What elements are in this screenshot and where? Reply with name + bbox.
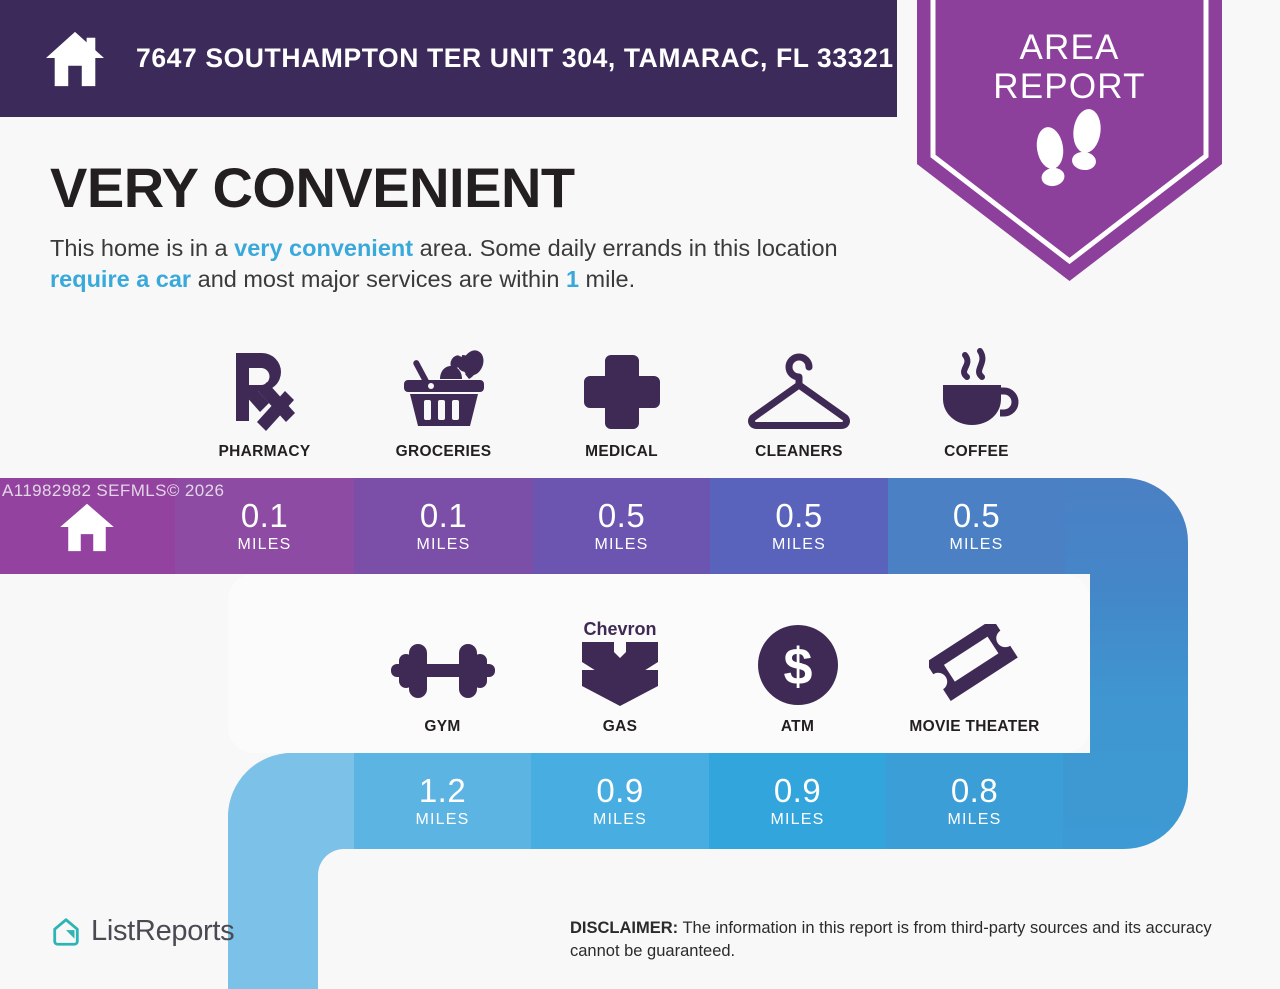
distance-value: 0.9 <box>709 773 886 809</box>
distance-value: 0.1 <box>354 498 533 534</box>
amenity-label: GYM <box>424 718 460 736</box>
distance-value: 0.1 <box>175 498 354 534</box>
distance-unit: MILES <box>888 536 1065 554</box>
distance-value: 0.5 <box>533 498 710 534</box>
movie-ticket-icon <box>929 620 1021 706</box>
distance-segment-lead <box>228 753 354 849</box>
dollar-circle-icon: $ <box>757 620 839 706</box>
distance-unit: MILES <box>354 811 531 829</box>
distance-unit: MILES <box>354 536 533 554</box>
prescription-rx-icon <box>230 345 300 431</box>
page-description: This home is in a very convenient area. … <box>50 233 910 295</box>
property-address: 7647 SOUTHAMPTON TER UNIT 304, TAMARAC, … <box>136 43 894 74</box>
header-bar: 7647 SOUTHAMPTON TER UNIT 304, TAMARAC, … <box>0 0 897 117</box>
desc-part-2: area. Some daily errands in this locatio… <box>413 235 838 261</box>
amenity-medical: MEDICAL <box>533 345 710 461</box>
distance-value: 0.5 <box>888 498 1065 534</box>
distance-value: 0.5 <box>710 498 888 534</box>
desc-highlight-3: 1 <box>566 266 579 292</box>
distance-unit: MILES <box>886 811 1063 829</box>
dumbbell-icon <box>391 620 495 706</box>
amenity-label: GROCERIES <box>396 443 492 461</box>
amenity-coffee: COFFEE <box>888 345 1065 461</box>
amenity-label: MEDICAL <box>585 443 658 461</box>
amenity-label: ATM <box>781 718 814 736</box>
amenity-label: CLEANERS <box>755 443 843 461</box>
amenity-pharmacy: PHARMACY <box>175 345 354 461</box>
amenity-atm-overlay: $ ATM <box>709 620 886 736</box>
listreports-house-tag-icon <box>50 916 82 948</box>
track-left-tail-notch <box>318 849 358 989</box>
distance-segment-movie: 0.8 MILES <box>886 753 1063 849</box>
desc-part-3: and most major services are within <box>191 266 566 292</box>
badge-line-1: AREA <box>917 28 1222 67</box>
grocery-basket-icon <box>400 345 488 431</box>
distance-unit: MILES <box>709 811 886 829</box>
clothes-hanger-icon <box>745 345 853 431</box>
distance-value: 1.2 <box>354 773 531 809</box>
distance-segment-medical: 0.5 MILES <box>533 478 710 574</box>
home-icon <box>44 30 106 88</box>
mls-watermark: A11982982 SEFMLS© 2026 <box>2 481 224 501</box>
page-title: VERY CONVENIENT <box>50 155 575 220</box>
chevron-gas-icon: Chevron <box>576 620 664 706</box>
badge-title: AREA REPORT <box>917 28 1222 106</box>
amenity-gas-overlay: Chevron GAS <box>531 620 709 736</box>
distance-unit: MILES <box>175 536 354 554</box>
svg-text:Chevron: Chevron <box>583 619 656 639</box>
row1-spacer <box>0 345 175 461</box>
listreports-logo[interactable]: ListReports <box>50 915 234 948</box>
distance-segment-cleaners: 0.5 MILES <box>710 478 888 574</box>
distance-segment-gas: 0.9 MILES <box>531 753 709 849</box>
row2-overlay-spacer <box>0 620 354 736</box>
listreports-logo-text: ListReports <box>91 915 234 948</box>
disclaimer: DISCLAIMER: The information in this repo… <box>570 917 1230 963</box>
amenity-cleaners: CLEANERS <box>710 345 888 461</box>
desc-highlight-1: very convenient <box>234 235 413 261</box>
distance-value: 0.9 <box>531 773 709 809</box>
home-icon <box>58 502 116 552</box>
amenity-label: PHARMACY <box>219 443 311 461</box>
amenity-gym-overlay: GYM <box>354 620 531 736</box>
area-report-page: 7647 SOUTHAMPTON TER UNIT 304, TAMARAC, … <box>0 0 1280 989</box>
svg-text:$: $ <box>783 638 812 696</box>
area-report-badge: AREA REPORT <box>917 0 1222 281</box>
amenity-icon-row-1: PHARMACY GROCERIES <box>0 345 1280 461</box>
desc-highlight-2: require a car <box>50 266 191 292</box>
amenity-movie-overlay: MOVIE THEATER <box>886 620 1063 736</box>
coffee-cup-icon <box>935 345 1019 431</box>
badge-line-2: REPORT <box>917 67 1222 106</box>
amenity-label: MOVIE THEATER <box>909 718 1039 736</box>
distance-segment-groceries: 0.1 MILES <box>354 478 533 574</box>
desc-part-4: mile. <box>579 266 635 292</box>
amenity-icon-row-2-overlay: GYM Chevron GAS $ ATM <box>0 620 1280 736</box>
distance-segment-gym: 1.2 MILES <box>354 753 531 849</box>
medical-cross-icon <box>582 345 662 431</box>
amenity-label: GAS <box>603 718 638 736</box>
distance-unit: MILES <box>710 536 888 554</box>
desc-part-1: This home is in a <box>50 235 234 261</box>
distance-value: 0.8 <box>886 773 1063 809</box>
track-left-tail <box>228 753 356 989</box>
amenity-groceries: GROCERIES <box>354 345 533 461</box>
distance-segment-coffee: 0.5 MILES <box>888 478 1065 574</box>
distance-unit: MILES <box>533 536 710 554</box>
disclaimer-label: DISCLAIMER: <box>570 919 678 937</box>
distance-unit: MILES <box>531 811 709 829</box>
amenity-label: COFFEE <box>944 443 1009 461</box>
distance-segment-atm: 0.9 MILES <box>709 753 886 849</box>
